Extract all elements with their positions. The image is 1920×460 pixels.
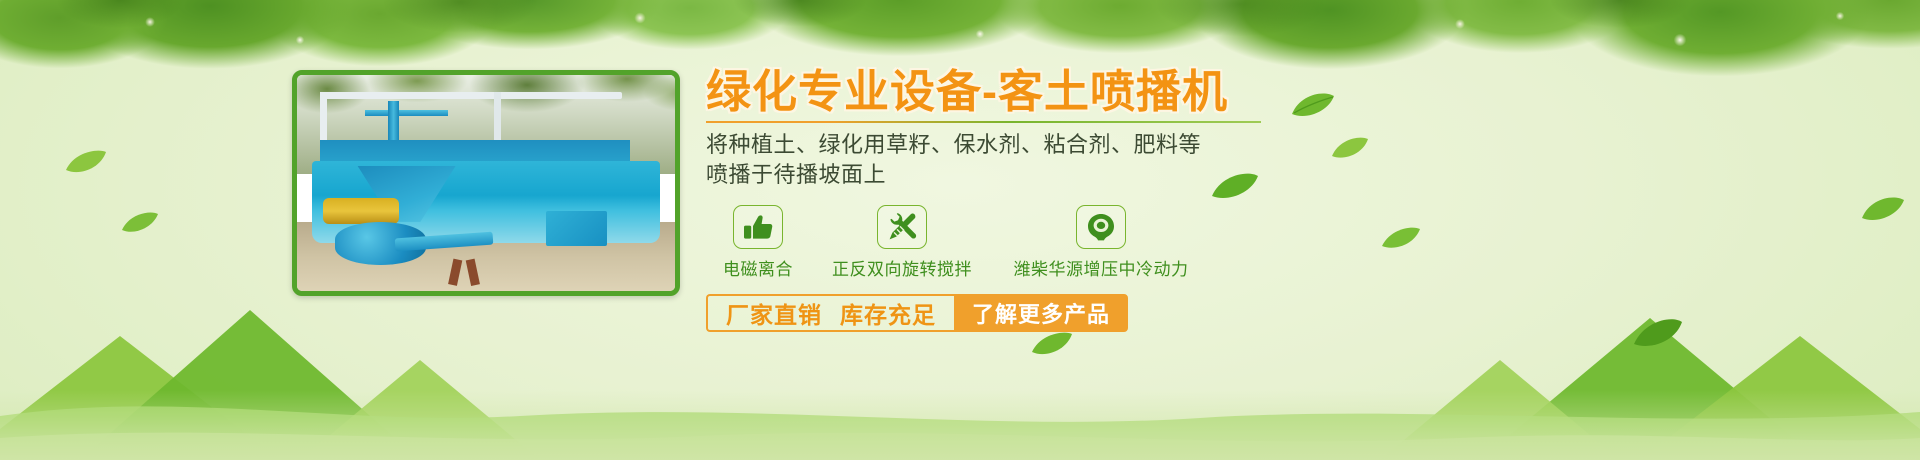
feature-label: 电磁离合: [706, 255, 810, 280]
grass-decoration: [0, 390, 1920, 460]
feature-label: 正反双向旋转搅拌: [810, 255, 994, 280]
cta-slogan-right: 库存充足: [840, 296, 936, 330]
leaf-icon: [1030, 332, 1074, 361]
leaf-icon: [64, 150, 108, 179]
feature-item-bidirectional-mixing: 正反双向旋转搅拌: [810, 205, 994, 280]
subtitle-line-2: 喷播于待播坡面上: [706, 160, 1326, 189]
cta-slogan: 厂家直销 库存充足: [706, 294, 954, 332]
feature-list: 电磁离合 正反双向旋转搅拌: [706, 205, 1326, 280]
banner-title: 绿化专业设备-客土喷播机: [706, 68, 1326, 115]
feature-item-weichai-power: 潍柴华源增压中冷动力: [994, 205, 1208, 280]
cta-bar: 厂家直销 库存充足 了解更多产品: [706, 294, 1326, 332]
engine-gear-icon: [1076, 205, 1126, 249]
leaf-icon: [1632, 318, 1684, 353]
leaf-icon: [1380, 226, 1422, 255]
learn-more-button[interactable]: 了解更多产品: [954, 294, 1128, 332]
feature-label: 潍柴华源增压中冷动力: [994, 255, 1208, 280]
wrench-screwdriver-icon: [877, 205, 927, 249]
product-photo: [292, 70, 680, 296]
cta-slogan-left: 厂家直销: [726, 296, 822, 330]
banner-subtitle: 将种植土、绿化用草籽、保水剂、粘合剂、肥料等 喷播于待播坡面上: [706, 130, 1326, 189]
leaf-icon: [1860, 196, 1906, 227]
feature-item-electromagnetic-clutch: 电磁离合: [706, 205, 810, 280]
product-photo-image: [297, 75, 675, 291]
banner-content: 绿化专业设备-客土喷播机 将种植土、绿化用草籽、保水剂、粘合剂、肥料等 喷播于待…: [706, 68, 1326, 332]
subtitle-line-1: 将种植土、绿化用草籽、保水剂、粘合剂、肥料等: [706, 130, 1326, 159]
title-divider: [706, 121, 1261, 123]
leaf-icon: [120, 212, 160, 239]
thumbs-up-icon: [733, 205, 783, 249]
leaf-icon: [1330, 136, 1370, 165]
promo-banner: 绿化专业设备-客土喷播机 将种植土、绿化用草籽、保水剂、粘合剂、肥料等 喷播于待…: [0, 0, 1920, 460]
